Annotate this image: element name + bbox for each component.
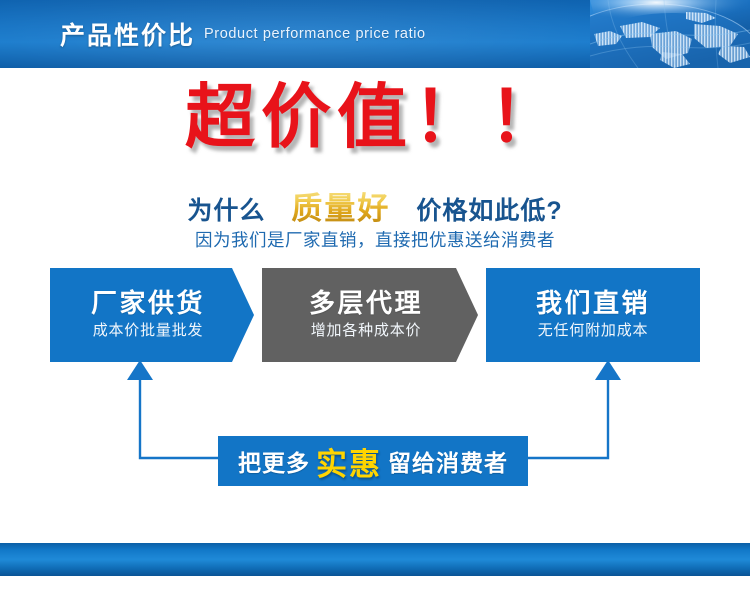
bottom-banner: 把更多 实惠 留给消费者 [218,436,528,486]
flow-step-subtitle: 成本价批量批发 [93,322,204,341]
flow-step-title: 厂家供货 [91,289,205,318]
flow-diagram: 厂家供货 成本价批量批发 多层代理 增加各种成本价 我们直销 无任何附加成本 [50,268,700,362]
flow-step-multi-agent: 多层代理 增加各种成本价 [262,268,478,362]
banner-part-consumer: 留给消费者 [388,444,508,478]
flow-step-subtitle: 无任何附加成本 [538,322,649,341]
subtitle-part-why: 为什么 [187,191,265,227]
globe-icon [590,0,750,68]
header-title-cn: 产品性价比 [60,16,195,52]
flow-step-subtitle: 增加各种成本价 [311,322,422,341]
page-header: 产品性价比 Product performance price ratio [0,0,750,68]
page-footer-bar [0,543,750,576]
subtitle-row: 为什么 质量好 价格如此低? [0,183,750,228]
connector-left-arrow-icon [127,360,232,458]
flow-step-direct-sales: 我们直销 无任何附加成本 [486,268,700,362]
promo-page: 产品性价比 Product performance price ratio 超价… [0,0,750,590]
connector-right-arrow-icon [516,360,621,458]
header-title-en: Product performance price ratio [204,26,426,42]
banner-part-benefit: 实惠 [316,439,382,484]
subtitle-part-price: 价格如此低? [416,191,562,227]
flow-step-title: 多层代理 [309,289,423,318]
main-headline: 超价值！！ [0,82,750,152]
header-title-group: 产品性价比 Product performance price ratio [60,0,426,68]
banner-part-more: 把更多 [238,444,310,478]
flow-step-factory-supply: 厂家供货 成本价批量批发 [50,268,254,362]
subtitle-part-quality: 质量好 [291,183,390,228]
byline-text: 因为我们是厂家直销，直接把优惠送给消费者 [0,227,750,252]
flow-step-title: 我们直销 [536,289,650,318]
